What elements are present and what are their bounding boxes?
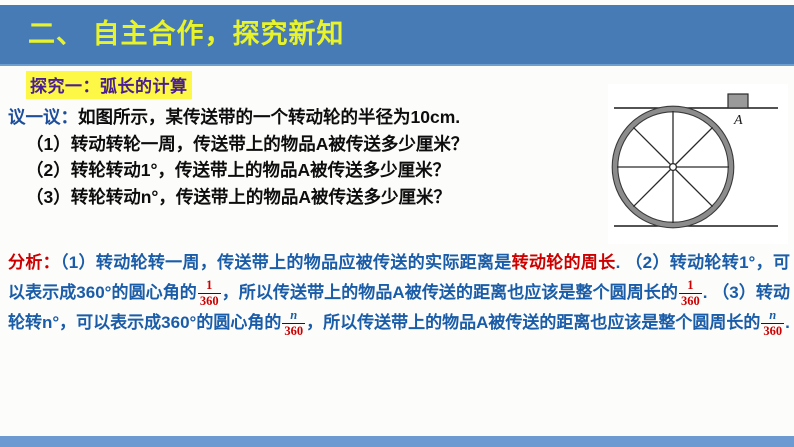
fraction-numerator: n [761, 309, 784, 323]
fraction-denominator: 360 [198, 294, 221, 308]
explore-heading: 探究一：弧长的计算 [26, 71, 192, 99]
question-item-3: （3）转轮转动n°，传送带上的物品A被传送多少厘米？ [8, 184, 608, 211]
question-block: 议一议：如图所示，某传送带的一个转动轮的半径为10cm. （1）转动转轮一周，传… [8, 104, 608, 210]
fraction-denominator: 360 [761, 324, 784, 338]
analysis-part1-a: （1）转动轮转一周，传送带上的物品应被传送的实际距离是 [60, 253, 512, 272]
fraction-numerator: n [282, 309, 305, 323]
fraction-denominator: 360 [282, 324, 305, 338]
analysis-part3-b: ，所以传送带上的物品A被传送的距离也应该是整个圆周长的 [306, 313, 760, 332]
fraction-n-over-360-b: n360 [761, 309, 784, 338]
block-a-rect [728, 94, 748, 108]
analysis-part2-end: . [703, 283, 708, 302]
question-item-1: （1）转动转轮一周，传送带上的物品A被传送多少厘米？ [8, 131, 608, 158]
question-item-2: （2）转轮转动1°，传送带上的物品A被传送多少厘米？ [8, 157, 608, 184]
block-a-label: A [733, 113, 743, 128]
question-lead: 议一议： [8, 107, 78, 127]
wheel-hub [670, 164, 677, 171]
question-intro: 如图所示，某传送带的一个转动轮的半径为10cm. [78, 107, 460, 127]
fraction-numerator: 1 [198, 279, 221, 293]
fraction-n-over-360-a: n360 [282, 309, 305, 338]
fraction-numerator: 1 [679, 279, 702, 293]
analysis-part1-end: . [616, 253, 621, 272]
footer-bar [0, 436, 794, 447]
slide-root: 二、 自主合作，探究新知 探究一：弧长的计算 议一议：如图所示，某传送带的一个转… [0, 0, 794, 447]
fraction-1-over-360-b: 1360 [679, 279, 702, 308]
page-title: 二、 自主合作，探究新知 [28, 12, 345, 51]
question-intro-line: 议一议：如图所示，某传送带的一个转动轮的半径为10cm. [8, 104, 608, 131]
analysis-label: 分析： [8, 253, 60, 272]
header-underline [0, 64, 794, 66]
wheel-diagram: A [608, 84, 788, 244]
fraction-denominator: 360 [679, 294, 702, 308]
analysis-paragraph: 分析：（1）转动轮转一周，传送带上的物品应被传送的实际距离是转动轮的周长. （2… [8, 248, 790, 338]
wheel-diagram-svg: A [608, 84, 788, 244]
analysis-part2-b: ，所以传送带上的物品A被传送的距离也应该是整个圆周长的 [222, 283, 678, 302]
analysis-part1-red: 转动轮的周长 [512, 253, 616, 272]
analysis-part3-end: . [785, 313, 790, 332]
fraction-1-over-360-a: 1360 [198, 279, 221, 308]
